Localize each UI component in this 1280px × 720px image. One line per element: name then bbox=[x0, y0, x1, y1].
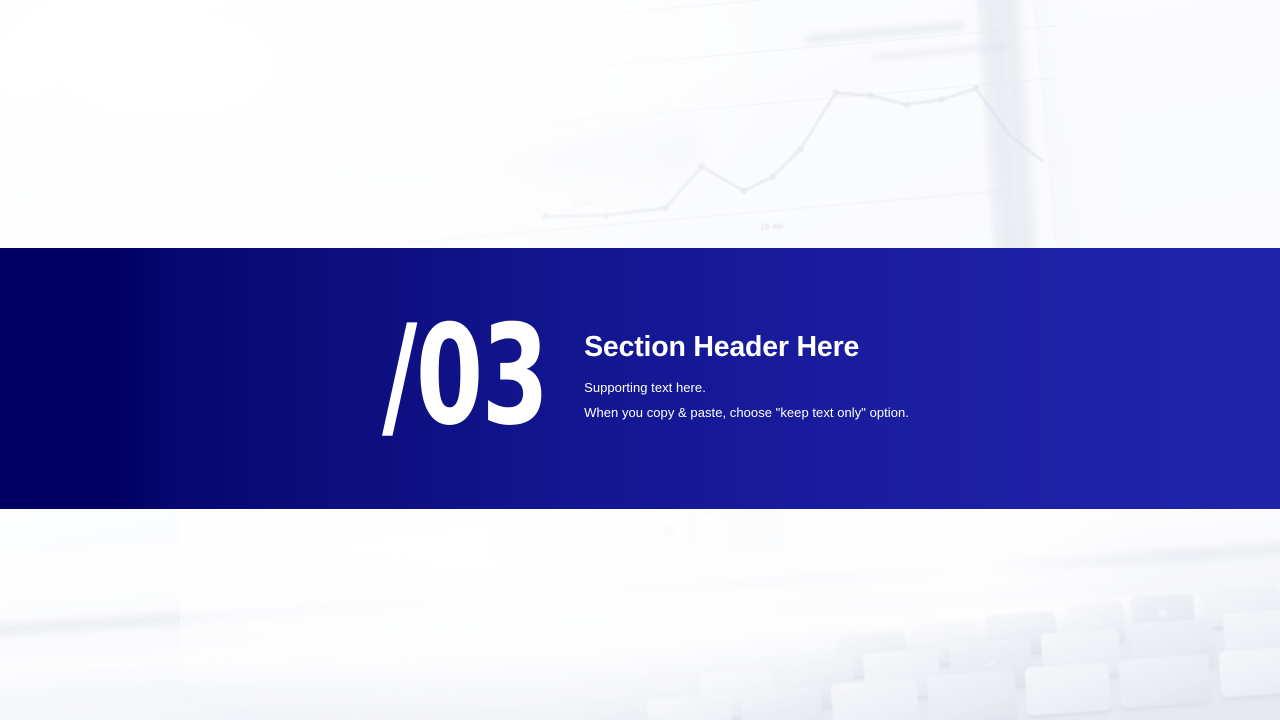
laptop-screen-area: 19 avr. 12 avr. 05 avr. bbox=[0, 0, 1280, 252]
keyboard-key bbox=[740, 686, 823, 720]
keyboard-key bbox=[830, 678, 919, 720]
banner-text-block: Section Header Here Supporting text here… bbox=[584, 331, 909, 425]
section-number: /03 bbox=[382, 313, 547, 440]
banner-content: /03 Section Header Here Supporting text … bbox=[382, 317, 909, 440]
laptop-deck-area: ▲ ♫ ⚉ ⌥ ⌘ ↵ bbox=[0, 505, 1280, 720]
section-divider-slide: 19 avr. 12 avr. 05 avr. ▲ ♫ ⚉ bbox=[0, 0, 1280, 720]
keyboard-key bbox=[926, 670, 1017, 720]
keyboard-key bbox=[558, 700, 639, 720]
keyboard: ⌥ ⌘ ↵ bbox=[0, 505, 1280, 720]
supporting-text-line-2: When you copy & paste, choose "keep text… bbox=[584, 400, 909, 425]
keyboard-key bbox=[1118, 654, 1211, 708]
supporting-text: Supporting text here. When you copy & pa… bbox=[584, 375, 909, 426]
keyboard-key bbox=[1024, 662, 1111, 716]
keyboard-key bbox=[1218, 646, 1280, 697]
page-title: Section Header Here bbox=[584, 331, 909, 364]
supporting-text-line-1: Supporting text here. bbox=[584, 375, 909, 400]
section-header-banner: /03 Section Header Here Supporting text … bbox=[0, 248, 1280, 509]
keyboard-key bbox=[646, 694, 733, 720]
